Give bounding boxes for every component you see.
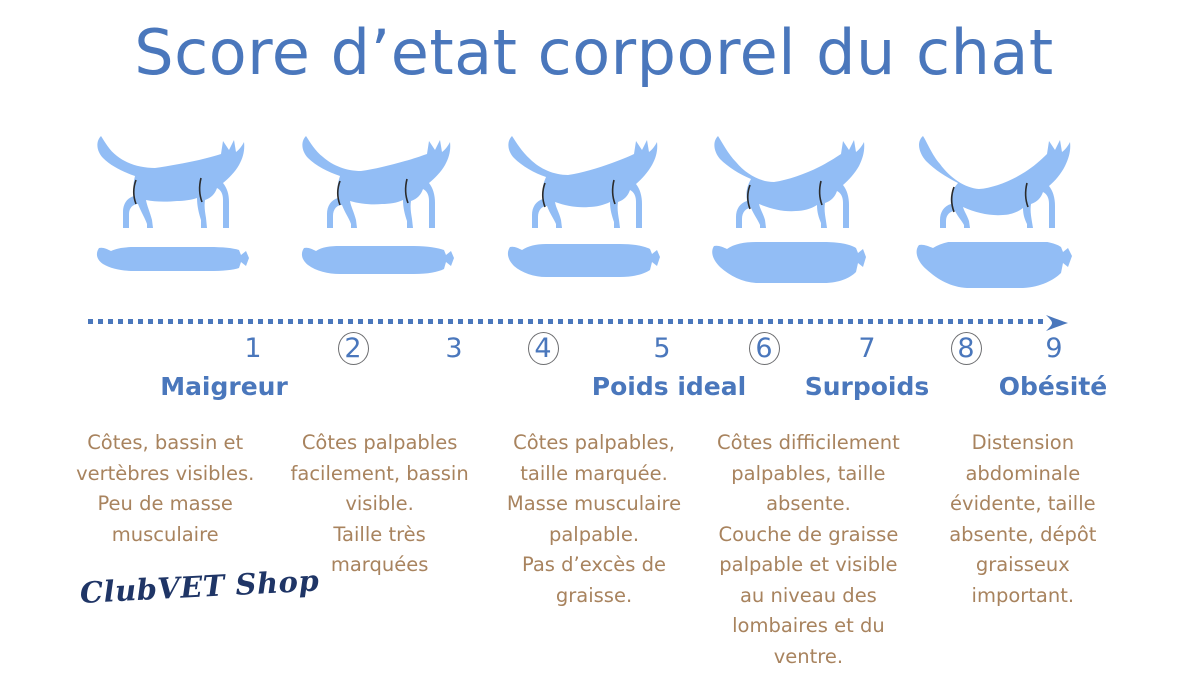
description-line: Côtes palpables, bbox=[495, 428, 693, 459]
cat-silhouette-ideal bbox=[487, 128, 693, 300]
score-number-1[interactable]: 1 bbox=[231, 332, 275, 366]
cat-side-view-icon bbox=[911, 128, 1091, 236]
score-number-9[interactable]: 9 bbox=[1032, 332, 1076, 366]
cat-side-view-icon bbox=[294, 128, 474, 236]
description-line: Peu de masse bbox=[66, 489, 264, 520]
description-obese: Distensionabdominaleévidente, tailleabse… bbox=[916, 428, 1130, 611]
description-line: au niveau des bbox=[709, 581, 907, 612]
description-line: visible. bbox=[280, 489, 478, 520]
description-line: Distension bbox=[924, 428, 1122, 459]
score-number-4[interactable]: 4 bbox=[521, 332, 565, 366]
description-ideal: Côtes palpables,taille marquée.Masse mus… bbox=[487, 428, 701, 611]
description-line: Taille très bbox=[280, 520, 478, 551]
cat-top-view-icon bbox=[500, 242, 680, 292]
score-number-2[interactable]: 2 bbox=[331, 332, 375, 366]
description-overweight: Côtes difficilementpalpables, tailleabse… bbox=[701, 428, 915, 672]
description-line: Côtes difficilement bbox=[709, 428, 907, 459]
score-number-8[interactable]: 8 bbox=[944, 332, 988, 366]
description-line: musculaire bbox=[66, 520, 264, 551]
category-label-poids-ideal: Poids ideal bbox=[592, 372, 746, 401]
cat-top-view-icon bbox=[294, 242, 474, 292]
description-line: abdominale bbox=[924, 459, 1122, 490]
cat-top-view-icon bbox=[911, 242, 1091, 292]
infographic-canvas: Score d’etat corporel du chat bbox=[0, 0, 1188, 692]
cat-side-view-icon bbox=[89, 128, 269, 236]
score-number-6[interactable]: 6 bbox=[742, 332, 786, 366]
description-line: graisseux bbox=[924, 550, 1122, 581]
cat-silhouette-row bbox=[76, 128, 1104, 300]
cat-top-view-icon bbox=[706, 242, 886, 292]
category-label-obesite: Obésité bbox=[999, 372, 1107, 401]
cat-side-view-icon bbox=[706, 128, 886, 236]
description-line: important. bbox=[924, 581, 1122, 612]
score-numbers: 1 2 3 4 5 6 7 8 9 bbox=[76, 332, 1104, 368]
cat-silhouette-obese bbox=[898, 128, 1104, 300]
cat-top-view-icon bbox=[89, 242, 269, 292]
description-line: lombaires et du bbox=[709, 611, 907, 642]
arrow-right-icon bbox=[1044, 313, 1070, 333]
description-row: Côtes, bassin etvertèbres visibles.Peu d… bbox=[58, 428, 1130, 672]
score-number-3[interactable]: 3 bbox=[432, 332, 476, 366]
scale-dotted-line bbox=[88, 319, 1048, 324]
description-line: absente. bbox=[709, 489, 907, 520]
description-line: ventre. bbox=[709, 642, 907, 673]
description-line: Côtes palpables bbox=[280, 428, 478, 459]
cat-silhouette-thin bbox=[282, 128, 488, 300]
score-number-7[interactable]: 7 bbox=[845, 332, 889, 366]
description-very-thin: Côtes, bassin etvertèbres visibles.Peu d… bbox=[58, 428, 272, 550]
description-line: évidente, taille bbox=[924, 489, 1122, 520]
page-title: Score d’etat corporel du chat bbox=[0, 16, 1188, 89]
description-line: Masse musculaire bbox=[495, 489, 693, 520]
description-line: vertèbres visibles. bbox=[66, 459, 264, 490]
description-line: palpables, taille bbox=[709, 459, 907, 490]
cat-side-view-icon bbox=[500, 128, 680, 236]
description-line: palpable et visible bbox=[709, 550, 907, 581]
description-line: palpable. bbox=[495, 520, 693, 551]
description-line: Couche de graisse bbox=[709, 520, 907, 551]
category-label-maigreur: Maigreur bbox=[160, 372, 288, 401]
score-scale-arrow bbox=[76, 312, 1108, 334]
score-number-5[interactable]: 5 bbox=[640, 332, 684, 366]
description-line: taille marquée. bbox=[495, 459, 693, 490]
cat-silhouette-very-thin bbox=[76, 128, 282, 300]
description-line: absente, dépôt bbox=[924, 520, 1122, 551]
description-line: Pas d’excès de bbox=[495, 550, 693, 581]
category-labels: Maigreur Poids ideal Surpoids Obésité bbox=[76, 372, 1104, 406]
description-line: facilement, bassin bbox=[280, 459, 478, 490]
description-line: Côtes, bassin et bbox=[66, 428, 264, 459]
cat-silhouette-overweight bbox=[693, 128, 899, 300]
category-label-surpoids: Surpoids bbox=[805, 372, 930, 401]
description-thin: Côtes palpablesfacilement, bassinvisible… bbox=[272, 428, 486, 581]
description-line: graisse. bbox=[495, 581, 693, 612]
